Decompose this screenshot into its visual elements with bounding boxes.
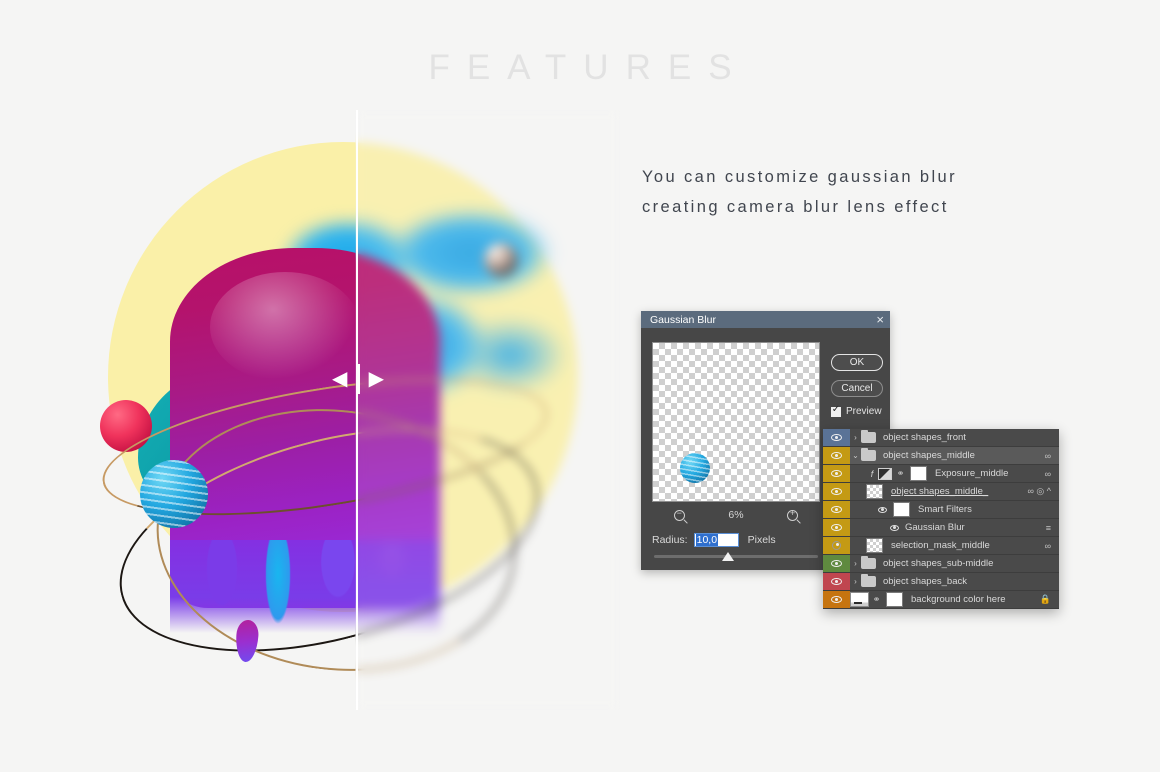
chevron-right-icon[interactable]: ▶ [369,369,384,389]
artwork-stage: ◀ ▶ [60,110,620,710]
chevron-right-icon[interactable]: › [850,559,861,568]
chevron-left-icon[interactable]: ◀ [332,369,347,389]
preview-toggle-row[interactable]: Preview [831,406,883,417]
radius-control-row: Radius: 10,0 Pixels [652,533,776,547]
zoom-in-icon[interactable]: + [787,510,798,521]
layer-name-label[interactable]: background color here [911,594,1040,605]
layer-row[interactable]: ›object shapes_front [823,429,1059,447]
layer-status-icons: ≡ [1046,523,1059,533]
layer-status-icons: ∞ [1045,469,1059,479]
layer-name-label[interactable]: object shapes_sub-middle [883,558,1059,569]
layer-name-label[interactable]: Gaussian Blur [905,522,1046,533]
split-divider-line [356,110,358,710]
layer-content: ›object shapes_back [850,573,1059,590]
layer-thumbnail[interactable] [866,538,883,553]
layer-row[interactable]: Smart Filters [823,501,1059,519]
eye-icon[interactable] [831,470,842,477]
layer-content: Gaussian Blur≡ [850,519,1059,536]
layer-status-icons: ∞ [1045,451,1059,461]
radius-slider-track[interactable] [654,555,818,558]
layer-content: ›object shapes_sub-middle [850,555,1059,572]
fx-icon: f [866,469,878,479]
layer-row[interactable]: ›object shapes_sub-middle [823,555,1059,573]
chevron-right-icon[interactable]: › [850,433,861,442]
eye-icon[interactable] [831,434,842,441]
preview-checkbox[interactable] [831,407,841,417]
layer-color-strip [823,501,850,518]
zoom-out-icon[interactable]: − [674,510,685,521]
layer-row[interactable]: ›object shapes_back [823,573,1059,591]
radius-value: 10,0 [696,534,718,546]
folder-icon [861,558,876,569]
layer-content: object shapes_middle_∞ ◎ ^ [850,483,1059,500]
layer-row[interactable]: Gaussian Blur≡ [823,519,1059,537]
chevron-right-icon[interactable]: › [850,577,861,586]
layer-content: ⌄object shapes_middle∞ [850,447,1059,464]
layer-row[interactable]: ⚭background color here🔒 [823,591,1059,609]
exposure-adjustment-icon [878,468,892,480]
slider-grip[interactable] [357,364,360,394]
layer-name-label[interactable]: Smart Filters [918,504,1059,515]
chevron-down-icon[interactable]: ⌄ [850,451,861,460]
layer-content: ›object shapes_front [850,429,1059,446]
dialog-titlebar[interactable]: Gaussian Blur × [641,311,890,328]
folder-icon [861,432,876,443]
cancel-button[interactable]: Cancel [831,380,883,397]
layer-content: Smart Filters [850,501,1059,518]
layer-name-label[interactable]: object shapes_middle_ [891,486,1028,497]
eye-icon[interactable] [890,525,899,531]
layer-thumbnail[interactable] [866,484,883,499]
eye-icon[interactable] [831,560,842,567]
layer-mask-thumbnail[interactable] [910,466,927,481]
preview-label: Preview [846,406,882,417]
preview-zoom-controls: − 6% + [652,509,820,521]
eye-icon[interactable] [878,507,887,513]
close-icon[interactable]: × [876,313,884,326]
description-text: You can customize gaussian blur creating… [642,162,1012,222]
background-thumbnail[interactable] [850,592,869,607]
blur-preview-canvas[interactable] [652,342,820,502]
link-icon[interactable]: ⚭ [872,594,881,605]
layer-content: ⚭background color here🔒 [850,591,1059,608]
lock-icon: 🔒 [1040,594,1059,605]
layer-name-label[interactable]: selection_mask_middle [891,540,1045,551]
link-icon[interactable]: ⚭ [896,468,905,479]
zoom-in-sign: + [788,508,797,518]
dialog-title: Gaussian Blur [650,314,876,326]
layer-color-strip [823,465,850,482]
blurred-half-overlay [355,110,620,710]
layer-color-strip [823,591,850,608]
zoom-out-sign: − [675,508,684,518]
eye-icon[interactable] [831,596,842,603]
striped-blue-sphere [140,460,208,528]
smart-filter-mask-thumbnail[interactable] [893,502,910,517]
layer-status-icons: ∞ [1045,541,1059,551]
layer-content: f⚭Exposure_middle∞ [850,465,1059,482]
ok-button[interactable]: OK [831,354,883,371]
layers-panel: ›object shapes_front⌄object shapes_middl… [823,429,1059,609]
eye-off-icon[interactable] [832,541,841,550]
eye-icon[interactable] [831,578,842,585]
folder-icon [861,450,876,461]
dialog-button-group: OK Cancel Preview [831,354,883,417]
radius-input[interactable]: 10,0 [694,533,739,547]
layer-name-label[interactable]: Exposure_middle [935,468,1045,479]
layer-color-strip [823,537,850,554]
radius-units-label: Pixels [748,534,776,546]
layer-color-strip [823,447,850,464]
split-slider-handle[interactable]: ◀ ▶ [332,362,384,396]
layer-row[interactable]: ⌄object shapes_middle∞ [823,447,1059,465]
layer-status-icons: ∞ ◎ ^ [1028,486,1060,497]
layer-content: selection_mask_middle∞ [850,537,1059,554]
layer-color-strip [823,519,850,536]
eye-icon[interactable] [831,488,842,495]
layer-color-strip [823,483,850,500]
layer-row[interactable]: f⚭Exposure_middle∞ [823,465,1059,483]
layer-color-strip [823,429,850,446]
layer-color-strip [823,555,850,572]
folder-icon [861,576,876,587]
layer-name-label[interactable]: object shapes_front [883,432,1059,443]
eye-icon[interactable] [831,524,842,531]
layer-name-label[interactable]: object shapes_back [883,576,1059,587]
eye-icon[interactable] [831,506,842,513]
layer-color-strip [823,573,850,590]
layer-row[interactable]: selection_mask_middle∞ [823,537,1059,555]
background-mask-thumbnail[interactable] [886,592,903,607]
eye-icon[interactable] [831,452,842,459]
layer-name-label[interactable]: object shapes_middle [883,450,1045,461]
page-title: FEATURES [0,48,1160,88]
radius-label: Radius: [652,534,688,546]
radius-slider-thumb[interactable] [722,552,734,561]
layer-row[interactable]: object shapes_middle_∞ ◎ ^ [823,483,1059,501]
preview-sphere-thumbnail [680,453,710,483]
zoom-level-label: 6% [728,509,743,521]
